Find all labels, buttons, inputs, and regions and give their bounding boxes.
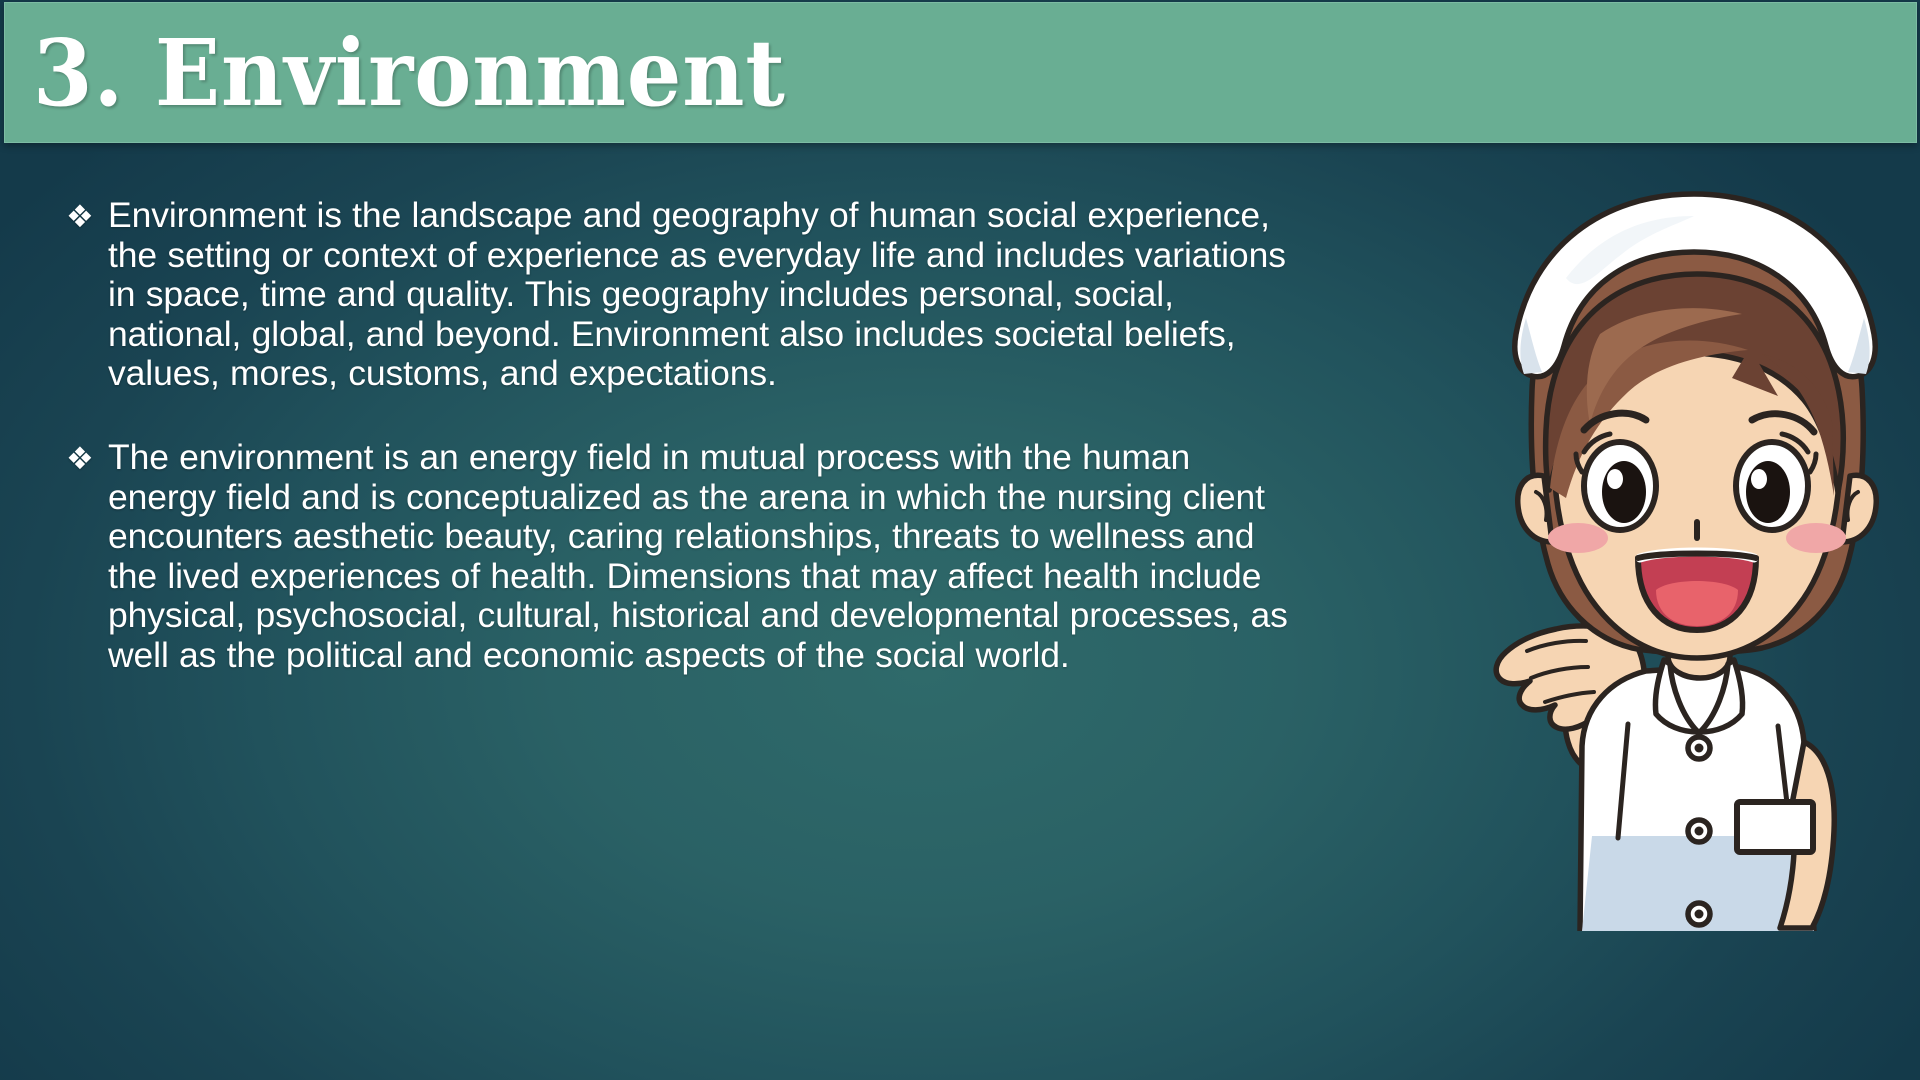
diamond-bullet-icon: ❖ [66, 198, 94, 238]
slide-title: 3. Environment [33, 11, 786, 135]
slide-body-content: ❖ Environment is the landscape and geogr… [52, 196, 1297, 676]
slide-header-band: 3. Environment [4, 2, 1917, 143]
bullet-paragraph: ❖ The environment is an energy field in … [52, 438, 1297, 676]
bullet-paragraph-text: Environment is the landscape and geograp… [108, 196, 1297, 394]
bullet-paragraph-text: The environment is an energy field in mu… [108, 438, 1297, 676]
nurse-illustration [1432, 186, 1920, 931]
presentation-slide: 3. Environment ❖ Environment is the land… [0, 0, 1920, 1080]
diamond-bullet-icon: ❖ [66, 440, 94, 480]
bullet-paragraph: ❖ Environment is the landscape and geogr… [52, 196, 1297, 394]
